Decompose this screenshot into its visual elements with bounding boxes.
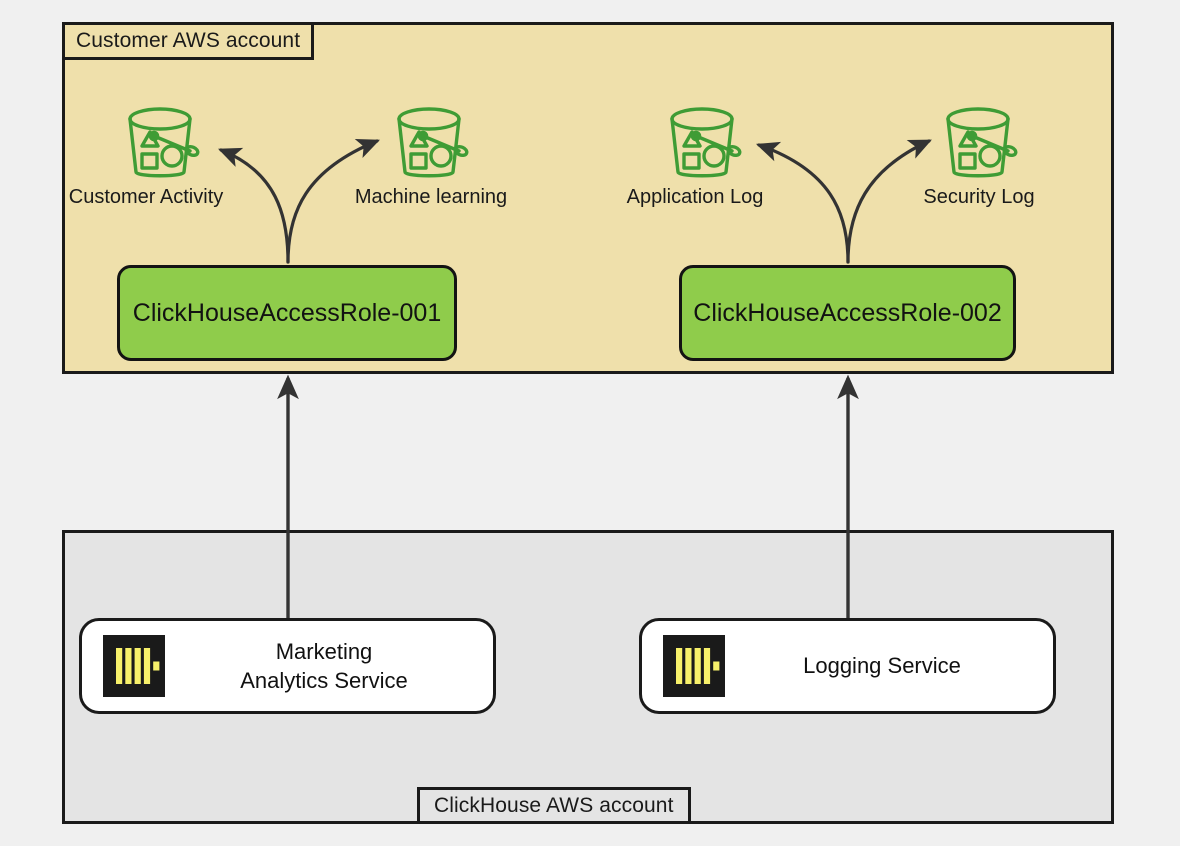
service-marketing-analytics[interactable]: Marketing Analytics Service xyxy=(79,618,496,714)
bucket-label: Customer Activity xyxy=(69,186,223,209)
bucket-security-log[interactable]: Security Log xyxy=(933,104,1027,209)
bucket-machine-learning[interactable]: Machine learning xyxy=(384,104,478,209)
s3-bucket-icon xyxy=(385,104,477,182)
service-label: Logging Service xyxy=(725,651,1053,680)
bucket-label: Application Log xyxy=(627,186,764,209)
customer-aws-account-title: Customer AWS account xyxy=(62,22,314,60)
s3-bucket-icon xyxy=(658,104,750,182)
customer-aws-account-title-text: Customer AWS account xyxy=(76,29,300,53)
bucket-label: Security Log xyxy=(923,186,1034,209)
clickhouse-logo-icon xyxy=(103,635,165,697)
role-clickhouseaccessrole-001[interactable]: ClickHouseAccessRole-001 xyxy=(117,265,457,361)
bucket-label: Machine learning xyxy=(355,186,507,209)
clickhouse-aws-account-title: ClickHouse AWS account xyxy=(417,787,691,824)
role-label: ClickHouseAccessRole-001 xyxy=(133,299,441,328)
s3-bucket-icon xyxy=(934,104,1026,182)
clickhouse-aws-account-title-text: ClickHouse AWS account xyxy=(434,794,674,818)
role-clickhouseaccessrole-002[interactable]: ClickHouseAccessRole-002 xyxy=(679,265,1016,361)
architecture-diagram: Customer AWS account ClickHouse AWS acco… xyxy=(0,0,1180,846)
service-logging[interactable]: Logging Service xyxy=(639,618,1056,714)
s3-bucket-icon xyxy=(116,104,208,182)
bucket-customer-activity[interactable]: Customer Activity xyxy=(115,104,209,209)
service-label: Marketing Analytics Service xyxy=(165,637,493,696)
clickhouse-logo-icon xyxy=(663,635,725,697)
role-label: ClickHouseAccessRole-002 xyxy=(693,299,1001,328)
bucket-application-log[interactable]: Application Log xyxy=(657,104,751,209)
